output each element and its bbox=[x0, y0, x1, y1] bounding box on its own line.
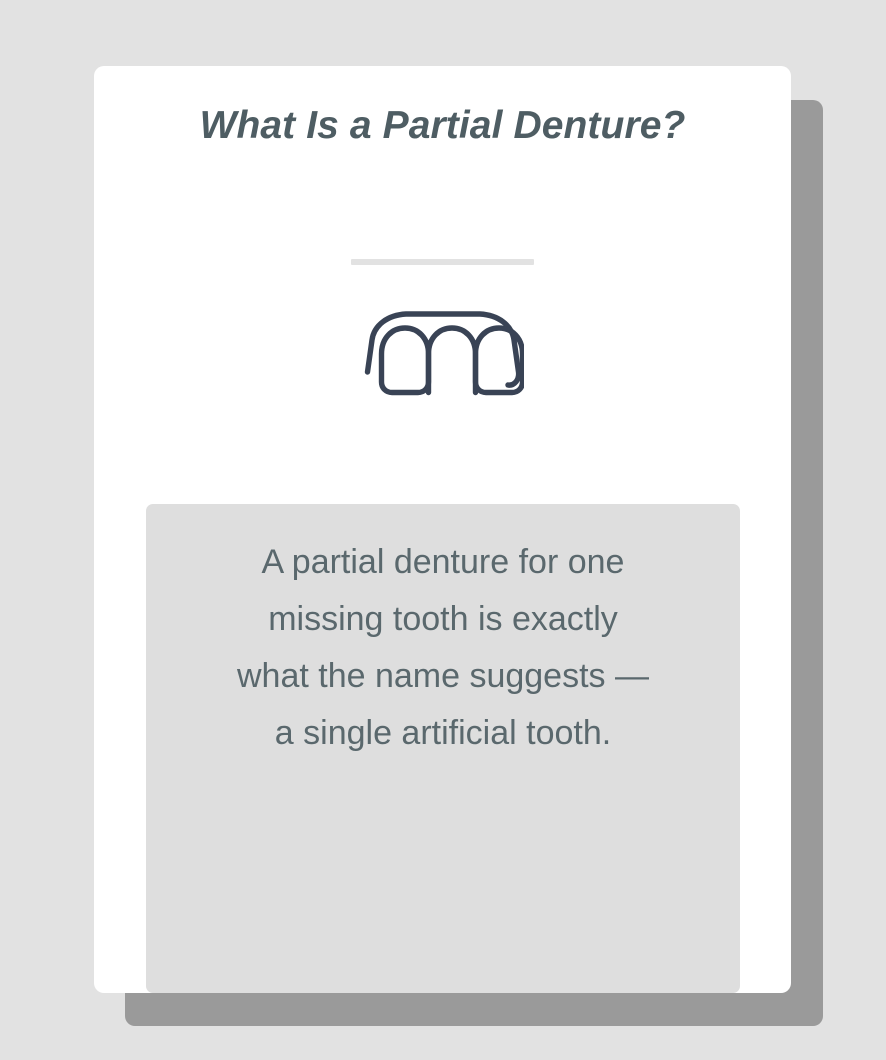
title-divider bbox=[351, 259, 534, 265]
slide-canvas: What Is a Partial Denture? A partial den… bbox=[0, 0, 886, 1060]
content-card: What Is a Partial Denture? A partial den… bbox=[94, 66, 791, 993]
description-text: A partial denture for one missing tooth … bbox=[146, 534, 740, 762]
description-line: A partial denture for one bbox=[146, 534, 740, 591]
denture-icon bbox=[362, 306, 524, 398]
description-panel: A partial denture for one missing tooth … bbox=[146, 504, 740, 993]
description-line: a single artificial tooth. bbox=[146, 705, 740, 762]
description-line: missing tooth is exactly bbox=[146, 591, 740, 648]
page-title: What Is a Partial Denture? bbox=[94, 104, 791, 148]
description-line: what the name suggests — bbox=[146, 648, 740, 705]
